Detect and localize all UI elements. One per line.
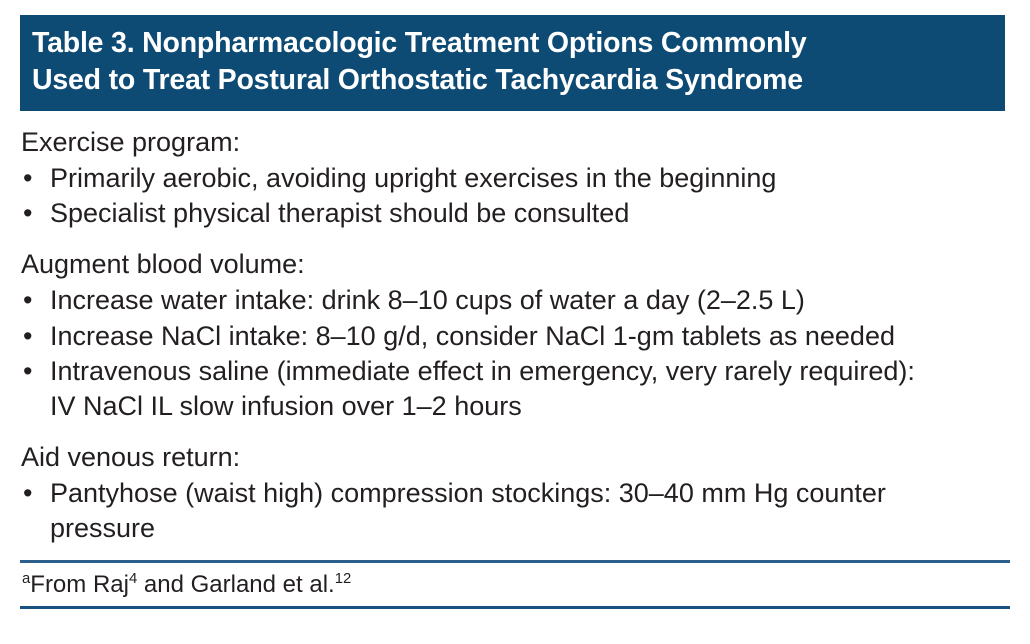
section-exercise-program: Exercise program: • Primarily aerobic, a… xyxy=(20,125,1010,231)
table-body: Exercise program: • Primarily aerobic, a… xyxy=(20,125,1010,546)
list-item: • Primarily aerobic, avoiding upright ex… xyxy=(20,161,1010,196)
list-item-line: Primarily aerobic, avoiding upright exer… xyxy=(50,161,1010,196)
footnote-text: aFrom Raj4 and Garland et al.12 xyxy=(20,563,1010,606)
list-item-line: Increase NaCl intake: 8–10 g/d, consider… xyxy=(50,319,1010,354)
list-item-line: Specialist physical therapist should be … xyxy=(50,196,1010,231)
section-heading: Augment blood volume: xyxy=(20,247,1010,282)
footnote-block: aFrom Raj4 and Garland et al.12 xyxy=(20,560,1010,609)
footnote-rule-bottom xyxy=(20,606,1010,609)
bullet-dot-icon: • xyxy=(23,319,32,354)
bullet-dot-icon: • xyxy=(23,161,32,196)
section-heading: Aid venous return: xyxy=(20,440,1010,475)
list-item: • Intravenous saline (immediate effect i… xyxy=(20,354,1010,424)
bullet-dot-icon: • xyxy=(23,476,32,511)
bullet-list: • Increase water intake: drink 8–10 cups… xyxy=(20,283,1010,423)
bullet-list: • Primarily aerobic, avoiding upright ex… xyxy=(20,161,1010,231)
table-title-line-2: Used to Treat Postural Orthostatic Tachy… xyxy=(32,62,993,99)
list-item: • Specialist physical therapist should b… xyxy=(20,196,1010,231)
bullet-list: • Pantyhose (waist high) compression sto… xyxy=(20,476,1010,546)
table-title-line-1: Table 3. Nonpharmacologic Treatment Opti… xyxy=(32,25,993,62)
section-augment-blood-volume: Augment blood volume: • Increase water i… xyxy=(20,247,1010,423)
footnote-reference-2: 12 xyxy=(335,571,352,587)
list-item-line-continuation: pressure xyxy=(50,511,1010,546)
bullet-dot-icon: • xyxy=(23,354,32,389)
table-header: Table 3. Nonpharmacologic Treatment Opti… xyxy=(20,15,1005,111)
list-item-line: Pantyhose (waist high) compression stock… xyxy=(50,476,1010,511)
list-item: • Increase NaCl intake: 8–10 g/d, consid… xyxy=(20,319,1010,354)
table-figure: Table 3. Nonpharmacologic Treatment Opti… xyxy=(20,15,1010,609)
footnote-source-2: and Garland et al. xyxy=(137,571,334,598)
bullet-dot-icon: • xyxy=(23,196,32,231)
list-item-line: Increase water intake: drink 8–10 cups o… xyxy=(50,283,1010,318)
list-item-line: Intravenous saline (immediate effect in … xyxy=(50,354,1010,389)
footnote-source-1: From Raj xyxy=(30,571,129,598)
list-item: • Increase water intake: drink 8–10 cups… xyxy=(20,283,1010,318)
list-item-line-continuation: IV NaCl IL slow infusion over 1–2 hours xyxy=(50,389,1010,424)
section-heading: Exercise program: xyxy=(20,125,1010,160)
section-aid-venous-return: Aid venous return: • Pantyhose (waist hi… xyxy=(20,440,1010,546)
bullet-dot-icon: • xyxy=(23,283,32,318)
list-item: • Pantyhose (waist high) compression sto… xyxy=(20,476,1010,546)
footnote-reference-1: 4 xyxy=(129,571,137,587)
